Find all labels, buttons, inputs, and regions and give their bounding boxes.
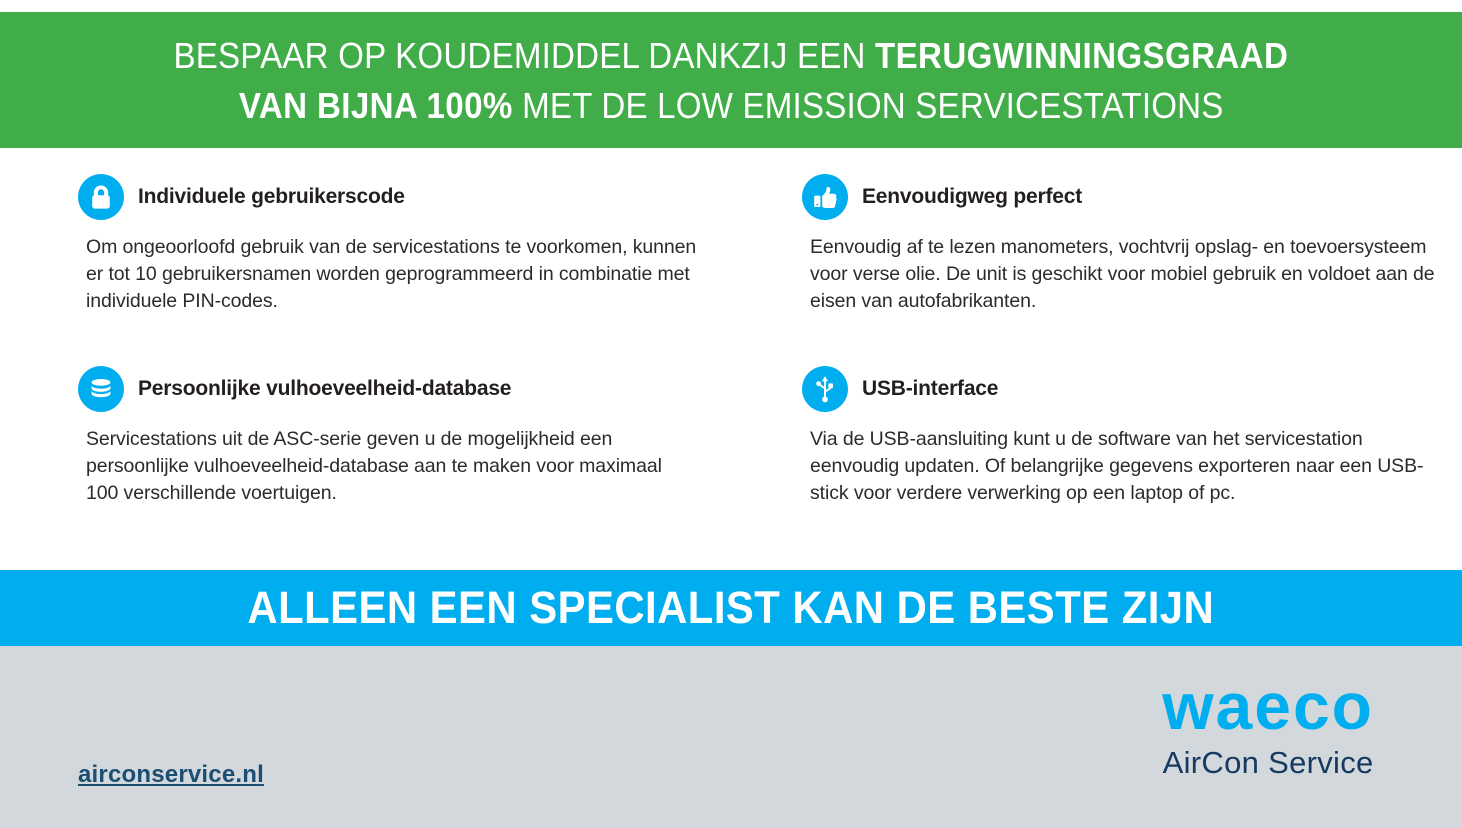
feature-body: Via de USB-aansluiting kunt u de softwar… [802,426,1442,507]
feature-body: Servicestations uit de ASC-serie geven u… [78,426,698,507]
waeco-logo: waeco AirCon Service [1162,670,1374,782]
feature-header: Individuele gebruikerscode [78,172,750,222]
waeco-tagline: AirCon Service [1162,744,1374,782]
feature-usb-interface: USB-interface Via de USB-aansluiting kun… [790,364,1462,540]
waeco-wordmark: waeco [1162,670,1374,742]
website-url-link[interactable]: airconservice.nl [78,761,264,789]
header-line-2: Van bijna 100% met de Low Emission servi… [239,81,1224,131]
footer: airconservice.nl waeco AirCon Service [0,646,1462,828]
feature-title: Individuele gebruikerscode [138,185,405,209]
blue-slogan-banner: Alleen een specialist kan de beste zijn [0,570,1462,646]
feature-body: Eenvoudig af te lezen manometers, vochtv… [802,234,1442,315]
header-line-2-light: met de Low Emission servicestations [513,85,1224,126]
feature-title: Persoonlijke vulhoeveelheid-database [138,377,511,401]
feature-title: USB-interface [862,377,998,401]
slogan-text: Alleen een specialist kan de beste zijn [248,582,1215,634]
header-line-1-light: Bespaar op koudemiddel dankzij een [174,35,876,76]
header-banner: Bespaar op koudemiddel dankzij een Terug… [0,12,1462,148]
feature-body: Om ongeoorloofd gebruik van de servicest… [78,234,698,315]
feature-individuele-gebruikerscode: Individuele gebruikerscode Om ongeoorloo… [78,172,790,364]
feature-grid: Individuele gebruikerscode Om ongeoorloo… [0,172,1462,564]
header-line-1: Bespaar op koudemiddel dankzij een Terug… [174,31,1289,81]
infographic-page: Bespaar op koudemiddel dankzij een Terug… [0,0,1462,828]
header-line-2-heavy: Van bijna 100% [239,85,513,126]
feature-header: USB-interface [802,364,1450,414]
header-line-1-heavy: Terugwinningsgraad [875,35,1288,76]
usb-icon [802,366,848,412]
lock-icon [78,174,124,220]
thumbs-up-icon [802,174,848,220]
feature-eenvoudigweg-perfect: Eenvoudigweg perfect Eenvoudig af te lez… [790,172,1462,364]
feature-title: Eenvoudigweg perfect [862,185,1082,209]
database-icon [78,366,124,412]
feature-header: Eenvoudigweg perfect [802,172,1450,222]
feature-header: Persoonlijke vulhoeveelheid-database [78,364,750,414]
feature-vulhoeveelheid-database: Persoonlijke vulhoeveelheid-database Ser… [78,364,790,540]
